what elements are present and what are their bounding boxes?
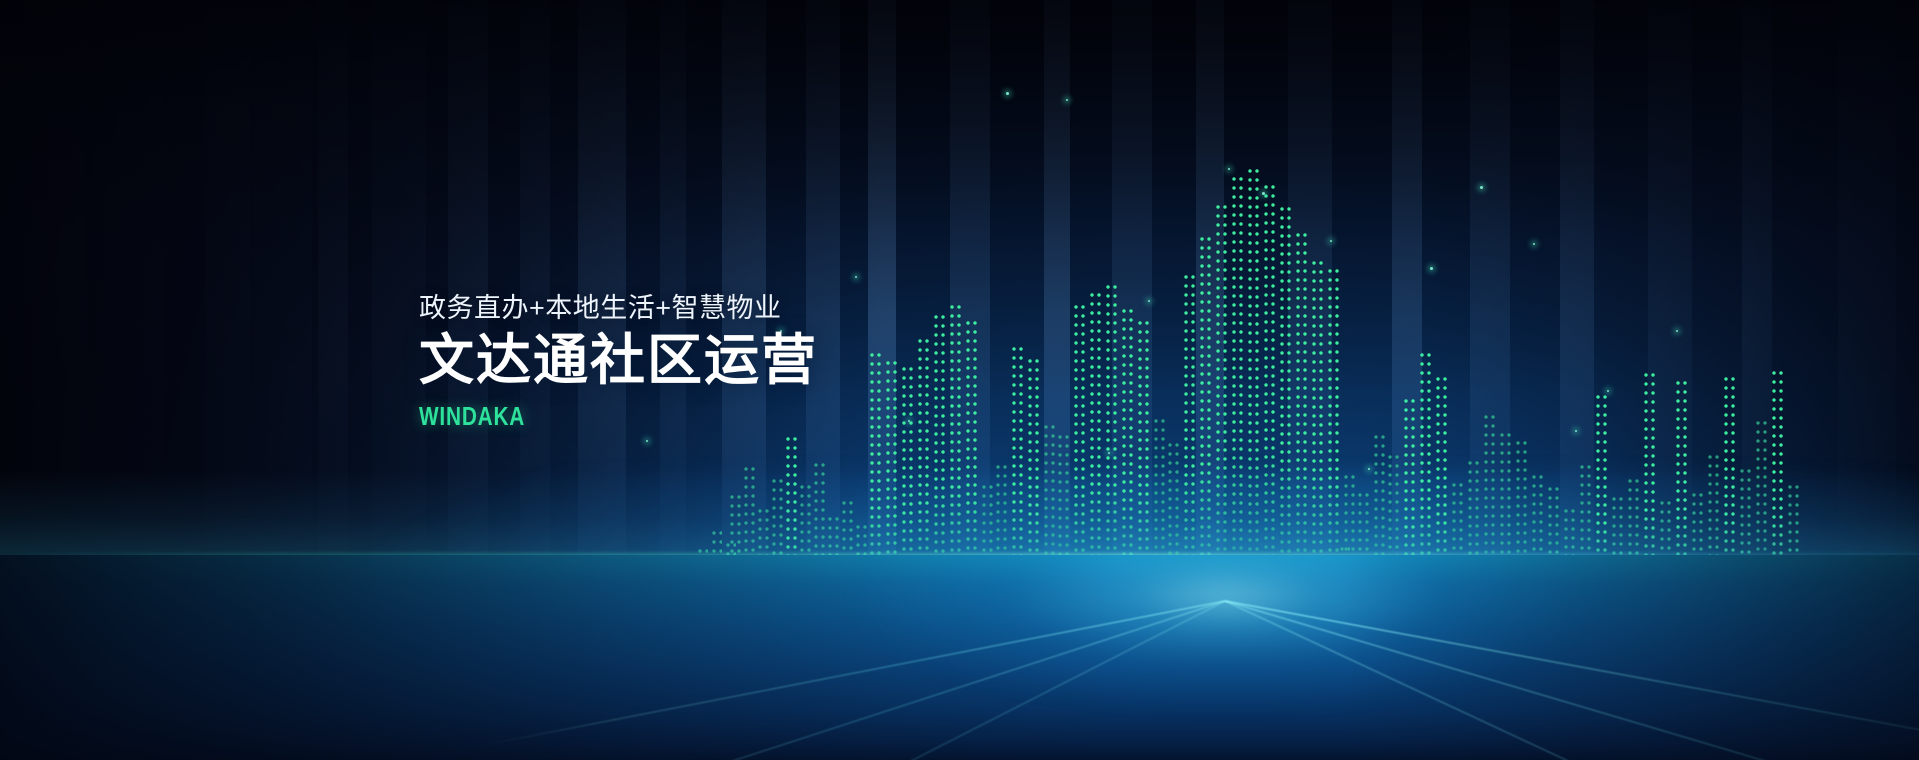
hero-subtitle: 政务直办+本地生活+智慧物业 xyxy=(419,292,818,324)
skyline-building xyxy=(1200,237,1214,605)
ground-left-vignette xyxy=(0,555,1113,760)
skyline-building xyxy=(1216,205,1230,605)
ground-right-vignette xyxy=(1343,555,1919,760)
dot-matrix-skyline xyxy=(0,0,1919,605)
skyline-building xyxy=(1296,233,1310,605)
skyline-building xyxy=(1264,185,1278,605)
skyline-building xyxy=(1280,207,1294,605)
hero-headline: 文达通社区运营 xyxy=(419,331,818,390)
skyline-building xyxy=(1232,177,1246,605)
hero-banner: 政务直办+本地生活+智慧物业 文达通社区运营 WINDAKA xyxy=(0,0,1919,760)
brand-wordmark: WINDAKA xyxy=(419,401,738,432)
skyline-building xyxy=(1248,169,1262,605)
hero-copy: 政务直办+本地生活+智慧物业 文达通社区运营 WINDAKA xyxy=(419,292,818,432)
perspective-ground xyxy=(0,555,1919,760)
